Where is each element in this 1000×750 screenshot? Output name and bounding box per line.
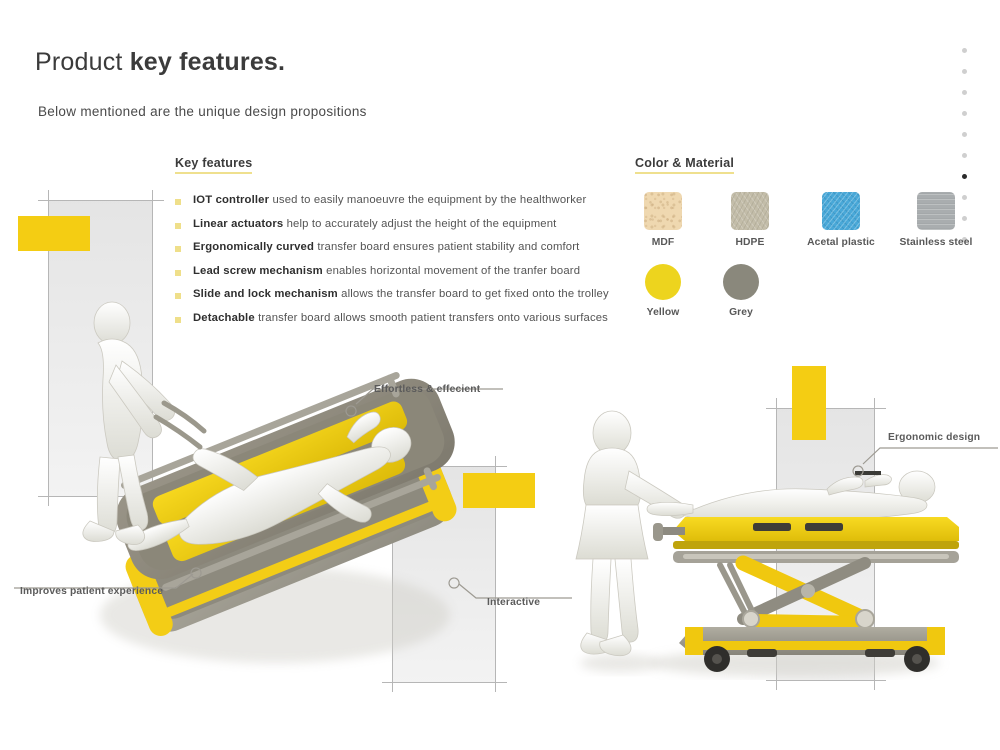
swatch-label: Grey xyxy=(711,307,771,318)
material-swatch-mdf[interactable]: MDF xyxy=(633,192,693,248)
left-guide-line-top xyxy=(38,200,164,201)
key-features-heading: Key features xyxy=(175,156,252,174)
page-title-strong: key features. xyxy=(130,48,285,76)
pager-dot-1[interactable] xyxy=(962,48,967,53)
feature-item-2: Linear actuators help to accurately adju… xyxy=(175,218,620,242)
feature-item-text: Ergonomically curved transfer board ensu… xyxy=(193,241,579,253)
right-guide-line-bottom xyxy=(766,680,886,681)
render-side-trolley xyxy=(565,405,965,680)
material-swatch-stainless-steel[interactable]: Stainless steel xyxy=(891,192,981,248)
swatch-chip xyxy=(644,192,682,230)
callout-label-improves: Improves patient experience xyxy=(20,586,163,597)
feature-item-term: IOT controller xyxy=(193,194,269,206)
color-swatch-row: YellowGrey xyxy=(633,264,981,318)
material-swatch-acetal-plastic[interactable]: Acetal plastic xyxy=(797,192,885,248)
swatch-chip xyxy=(731,192,769,230)
bullet-square-icon xyxy=(175,246,181,252)
pager-dot-7[interactable] xyxy=(962,174,967,179)
left-yellow-block xyxy=(18,216,90,251)
swatch-chip xyxy=(917,192,955,230)
render-angled-stretcher xyxy=(60,285,490,685)
feature-item-text: Lead screw mechanism enables horizontal … xyxy=(193,265,580,277)
color-swatch-grey[interactable]: Grey xyxy=(711,264,771,318)
bullet-square-icon xyxy=(175,223,181,229)
callout-label-effortless: Effortless & effecient xyxy=(374,384,480,395)
swatch-label: HDPE xyxy=(711,237,789,248)
feature-item-term: Ergonomically curved xyxy=(193,241,314,253)
swatch-chip xyxy=(822,192,860,230)
feature-item-3: Ergonomically curved transfer board ensu… xyxy=(175,241,620,265)
slide-root: Product key features. Below mentioned ar… xyxy=(0,0,1000,750)
feature-item-1: IOT controller used to easily manoeuvre … xyxy=(175,194,620,218)
material-swatch-row: MDFHDPEAcetal plasticStainless steel xyxy=(633,192,981,248)
page-title-light: Product xyxy=(35,48,130,76)
page-subtitle: Below mentioned are the unique design pr… xyxy=(38,104,367,119)
pager-dot-5[interactable] xyxy=(962,132,967,137)
swatch-chip xyxy=(723,264,759,300)
pager-dot-2[interactable] xyxy=(962,69,967,74)
swatch-label: MDF xyxy=(633,237,693,248)
bullet-square-icon xyxy=(175,199,181,205)
material-swatch-hdpe[interactable]: HDPE xyxy=(711,192,789,248)
swatch-label: Stainless steel xyxy=(891,237,981,248)
swatch-chip xyxy=(645,264,681,300)
callout-label-ergonomic: Ergonomic design xyxy=(888,432,980,443)
swatch-label: Yellow xyxy=(633,307,693,318)
callout-label-interactive: Interactive xyxy=(487,597,540,608)
feature-item-text: IOT controller used to easily manoeuvre … xyxy=(193,194,586,206)
pager-dot-4[interactable] xyxy=(962,111,967,116)
pager-dot-3[interactable] xyxy=(962,90,967,95)
color-swatch-yellow[interactable]: Yellow xyxy=(633,264,693,318)
swatch-label: Acetal plastic xyxy=(797,237,885,248)
color-material-heading: Color & Material xyxy=(635,156,734,174)
feature-item-text: Linear actuators help to accurately adju… xyxy=(193,218,556,230)
feature-item-term: Lead screw mechanism xyxy=(193,265,323,277)
page-title: Product key features. xyxy=(35,48,285,77)
pager-dot-6[interactable] xyxy=(962,153,967,158)
bullet-square-icon xyxy=(175,270,181,276)
color-material-grid: MDFHDPEAcetal plasticStainless steel Yel… xyxy=(633,192,981,318)
feature-item-term: Linear actuators xyxy=(193,218,283,230)
